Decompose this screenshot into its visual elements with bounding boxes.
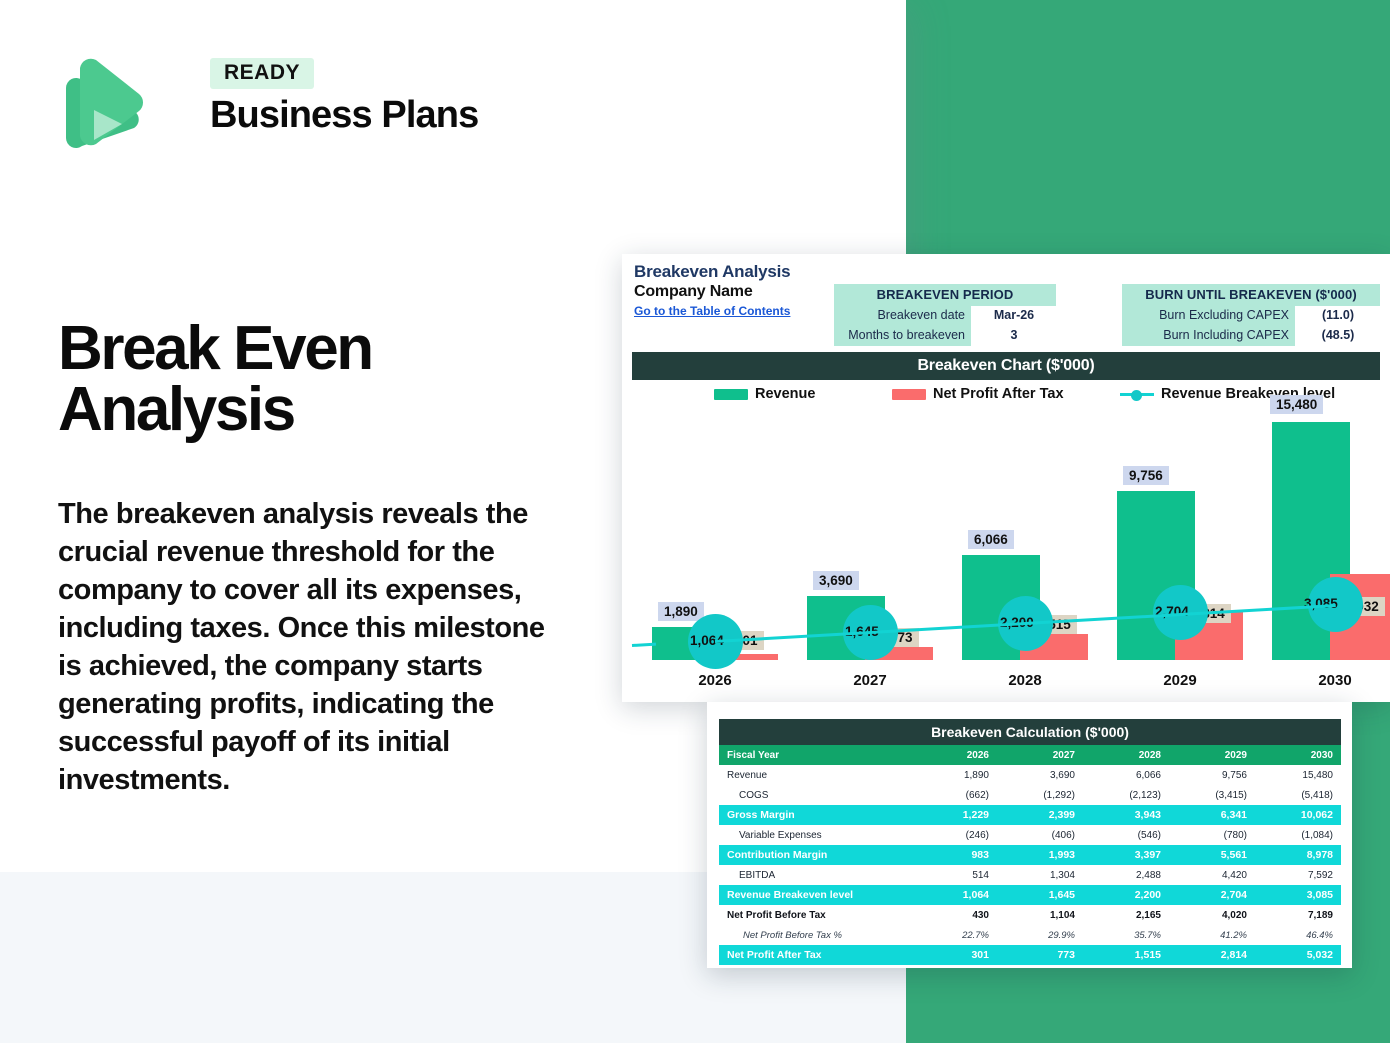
table-row: Revenue 1,890 3,690 6,066 9,756 15,480 — [719, 765, 1341, 785]
legend-swatch-revenue-icon — [714, 389, 748, 400]
burn-excluding-capex-value[interactable]: (11.0) — [1295, 306, 1380, 326]
row-label: EBITDA — [719, 865, 911, 885]
x-axis-label-2026: 2026 — [660, 672, 770, 689]
row-cell: 4,020 — [1169, 905, 1255, 925]
table-row: Contribution Margin 983 1,993 3,397 5,56… — [719, 845, 1341, 865]
row-cell: 25.0% — [1083, 965, 1169, 968]
row-cell: 2,399 — [997, 805, 1083, 825]
page-title: Break Even Analysis — [58, 318, 578, 441]
row-label: COGS — [719, 785, 911, 805]
x-axis-label-2028: 2028 — [970, 672, 1080, 689]
row-cell: 1,104 — [997, 905, 1083, 925]
row-cell: 7,189 — [1255, 905, 1341, 925]
play-triangle-logo-icon — [60, 58, 144, 150]
row-cell: 2,165 — [1083, 905, 1169, 925]
bar-label-revenue-2026: 1,890 — [658, 602, 704, 621]
row-cell: 35.7% — [1083, 925, 1169, 945]
row-cell: 22.7% — [911, 925, 997, 945]
row-cell: 2,200 — [1083, 885, 1169, 905]
table-row: EBITDA 514 1,304 2,488 4,420 7,592 — [719, 865, 1341, 885]
table-row: Net Profit After Tax % 15.9% 20.9% 25.0%… — [719, 965, 1341, 968]
calc-header-2028: 2028 — [1083, 745, 1169, 765]
row-cell: 983 — [911, 845, 997, 865]
x-axis-label-2030: 2030 — [1280, 672, 1390, 689]
row-label: Net Profit Before Tax % — [719, 925, 911, 945]
months-to-breakeven-row: Months to breakeven 3 — [834, 326, 1056, 346]
row-cell: 514 — [911, 865, 997, 885]
row-cell: 3,943 — [1083, 805, 1169, 825]
row-cell: 15.9% — [911, 965, 997, 968]
row-cell: 3,085 — [1255, 885, 1341, 905]
breakeven-period-box: BREAKEVEN PERIOD Breakeven date Mar-26 M… — [834, 284, 1056, 346]
row-cell: 6,341 — [1169, 805, 1255, 825]
row-cell: 32.5% — [1255, 965, 1341, 968]
months-to-breakeven-value[interactable]: 3 — [971, 326, 1056, 346]
burn-including-capex-value[interactable]: (48.5) — [1295, 326, 1380, 346]
row-cell: 1,515 — [1083, 945, 1169, 965]
page-title-line1: Break Even — [58, 318, 578, 379]
row-cell: 15,480 — [1255, 765, 1341, 785]
row-cell: 4,420 — [1169, 865, 1255, 885]
burn-until-breakeven-title: BURN UNTIL BREAKEVEN ($'000) — [1122, 284, 1380, 306]
table-row: Net Profit After Tax 301 773 1,515 2,814… — [719, 945, 1341, 965]
row-cell: 46.4% — [1255, 925, 1341, 945]
row-cell: 2,488 — [1083, 865, 1169, 885]
calc-header-2029: 2029 — [1169, 745, 1255, 765]
row-cell: 301 — [911, 945, 997, 965]
table-row: COGS (662) (1,292) (2,123) (3,415) (5,41… — [719, 785, 1341, 805]
table-row: Gross Margin 1,229 2,399 3,943 6,341 10,… — [719, 805, 1341, 825]
sheet-header: Breakeven Analysis Company Name Go to th… — [634, 262, 834, 318]
row-cell: 6,066 — [1083, 765, 1169, 785]
row-cell: 2,704 — [1169, 885, 1255, 905]
bar-label-revenue-2029: 9,756 — [1123, 466, 1169, 485]
row-cell: 1,890 — [911, 765, 997, 785]
background-panel-top-right — [891, 0, 1390, 265]
row-label: Net Profit After Tax — [719, 945, 911, 965]
row-cell: 10,062 — [1255, 805, 1341, 825]
brand-badge: READY — [210, 58, 314, 89]
burn-including-capex-row: Burn Including CAPEX (48.5) — [1122, 326, 1380, 346]
row-cell: 1,993 — [997, 845, 1083, 865]
row-cell: 29.9% — [997, 925, 1083, 945]
calc-table: Fiscal Year 2026 2027 2028 2029 2030 Rev… — [719, 745, 1341, 968]
row-cell: 41.2% — [1169, 925, 1255, 945]
breakeven-chart-card: Breakeven Analysis Company Name Go to th… — [622, 254, 1390, 702]
table-row: Revenue Breakeven level 1,064 1,645 2,20… — [719, 885, 1341, 905]
chart-title: Breakeven Chart ($'000) — [632, 352, 1380, 380]
row-cell: (2,123) — [1083, 785, 1169, 805]
page-title-line2: Analysis — [58, 379, 578, 440]
row-cell: (662) — [911, 785, 997, 805]
legend-swatch-npat-icon — [892, 389, 926, 400]
row-cell: 3,397 — [1083, 845, 1169, 865]
bar-label-revenue-2028: 6,066 — [968, 530, 1014, 549]
row-cell: 1,645 — [997, 885, 1083, 905]
legend-item-net-profit-after-tax[interactable]: Net Profit After Tax — [892, 386, 1064, 402]
row-cell: (1,292) — [997, 785, 1083, 805]
row-cell: 5,561 — [1169, 845, 1255, 865]
calc-table-header-row: Fiscal Year 2026 2027 2028 2029 2030 — [719, 745, 1341, 765]
row-cell: 1,064 — [911, 885, 997, 905]
row-cell: 5,032 — [1255, 945, 1341, 965]
burn-excluding-capex-row: Burn Excluding CAPEX (11.0) — [1122, 306, 1380, 326]
brand-wordmark: READY Business Plans — [210, 58, 478, 137]
x-axis-label-2029: 2029 — [1125, 672, 1235, 689]
calc-header-2030: 2030 — [1255, 745, 1341, 765]
bar-label-revenue-2030: 15,480 — [1270, 395, 1323, 414]
legend-line-marker-icon — [1120, 389, 1154, 400]
legend-label-revenue: Revenue — [755, 386, 815, 402]
row-cell: 1,229 — [911, 805, 997, 825]
breakeven-date-row: Breakeven date Mar-26 — [834, 306, 1056, 326]
row-cell: (546) — [1083, 825, 1169, 845]
brand-name: Business Plans — [210, 94, 478, 137]
row-cell: (780) — [1169, 825, 1255, 845]
brand-logo: READY Business Plans — [60, 58, 440, 158]
row-label: Revenue — [719, 765, 911, 785]
calc-header-2026: 2026 — [911, 745, 997, 765]
table-of-contents-link[interactable]: Go to the Table of Contents — [634, 304, 834, 318]
row-cell: 1,304 — [997, 865, 1083, 885]
row-cell: 3,690 — [997, 765, 1083, 785]
row-cell: (246) — [911, 825, 997, 845]
row-cell: 2,814 — [1169, 945, 1255, 965]
row-label: Net Profit Before Tax — [719, 905, 911, 925]
row-cell: 430 — [911, 905, 997, 925]
table-row: Net Profit Before Tax % 22.7% 29.9% 35.7… — [719, 925, 1341, 945]
calc-header-fiscal-year: Fiscal Year — [719, 745, 911, 765]
breakeven-date-value[interactable]: Mar-26 — [971, 306, 1056, 326]
row-cell: 20.9% — [997, 965, 1083, 968]
x-axis-label-2027: 2027 — [815, 672, 925, 689]
calc-table-title: Breakeven Calculation ($'000) — [719, 719, 1341, 745]
row-label: Contribution Margin — [719, 845, 911, 865]
page-description: The breakeven analysis reveals the cruci… — [58, 496, 548, 800]
months-to-breakeven-label: Months to breakeven — [834, 326, 971, 346]
sheet-subheading: Company Name — [634, 283, 834, 301]
row-cell: 28.8% — [1169, 965, 1255, 968]
row-cell: 9,756 — [1169, 765, 1255, 785]
row-label: Gross Margin — [719, 805, 911, 825]
table-row: Net Profit Before Tax 430 1,104 2,165 4,… — [719, 905, 1341, 925]
bar-label-revenue-2027: 3,690 — [813, 571, 859, 590]
burn-excluding-capex-label: Burn Excluding CAPEX — [1122, 306, 1295, 326]
sheet-heading: Breakeven Analysis — [634, 262, 834, 282]
chart-legend: Revenue Net Profit After Tax Revenue Bre… — [632, 386, 1380, 408]
row-cell: (3,415) — [1169, 785, 1255, 805]
chart-plot-area: 1,890 301 1,064 2026 3,690 773 1,645 202… — [632, 422, 1380, 694]
burn-until-breakeven-box: BURN UNTIL BREAKEVEN ($'000) Burn Exclud… — [1122, 284, 1380, 346]
legend-item-revenue[interactable]: Revenue — [714, 386, 815, 402]
row-cell: 8,978 — [1255, 845, 1341, 865]
row-cell: (1,084) — [1255, 825, 1341, 845]
row-cell: (5,418) — [1255, 785, 1341, 805]
row-label: Variable Expenses — [719, 825, 911, 845]
row-label: Net Profit After Tax % — [719, 965, 911, 968]
row-cell: 7,592 — [1255, 865, 1341, 885]
row-cell: (406) — [997, 825, 1083, 845]
burn-including-capex-label: Burn Including CAPEX — [1122, 326, 1295, 346]
breakeven-period-title: BREAKEVEN PERIOD — [834, 284, 1056, 306]
breakeven-calculation-card: Breakeven Calculation ($'000) Fiscal Yea… — [707, 702, 1352, 968]
breakeven-date-label: Breakeven date — [834, 306, 971, 326]
row-cell: 773 — [997, 945, 1083, 965]
row-label: Revenue Breakeven level — [719, 885, 911, 905]
calc-header-2027: 2027 — [997, 745, 1083, 765]
table-row: Variable Expenses (246) (406) (546) (780… — [719, 825, 1341, 845]
legend-label-npat: Net Profit After Tax — [933, 386, 1064, 402]
